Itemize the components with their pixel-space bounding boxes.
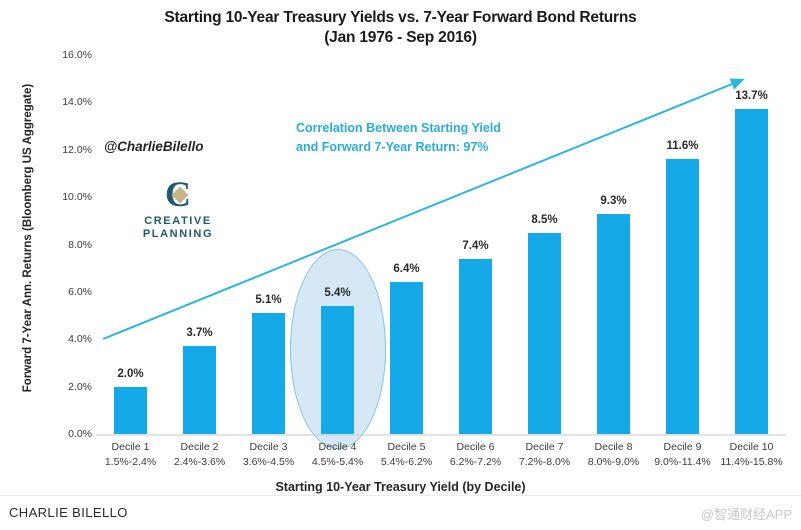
x-tick-decile: Decile 9	[643, 440, 723, 455]
y-axis-tick-label: 2.0%	[36, 381, 92, 393]
bar[interactable]	[183, 346, 216, 434]
bar-value-label: 5.1%	[233, 294, 305, 306]
y-axis-tick-label: 4.0%	[36, 333, 92, 345]
x-axis-tick-label: Decile 88.0%-9.0%	[574, 440, 654, 470]
bar-value-label: 2.0%	[95, 368, 167, 380]
bar[interactable]	[252, 313, 285, 434]
x-axis-tick-label: Decile 11.5%-2.4%	[91, 440, 171, 470]
x-tick-decile: Decile 3	[229, 440, 309, 455]
x-axis-tick-label: Decile 33.6%-4.5%	[229, 440, 309, 470]
y-axis-tick-label: 14.0%	[36, 96, 92, 108]
y-axis-tick-label: 0.0%	[36, 428, 92, 440]
bar-value-label: 3.7%	[164, 327, 236, 339]
x-tick-range: 1.5%-2.4%	[91, 455, 171, 470]
bar[interactable]	[459, 259, 492, 434]
x-tick-range: 7.2%-8.0%	[505, 455, 585, 470]
bar-value-label: 6.4%	[371, 263, 443, 275]
bar[interactable]	[114, 387, 147, 434]
x-axis-tick-label: Decile 22.4%-3.6%	[160, 440, 240, 470]
x-axis-title: Starting 10-Year Treasury Yield (by Deci…	[0, 480, 801, 494]
x-tick-decile: Decile 5	[367, 440, 447, 455]
x-tick-range: 2.4%-3.6%	[160, 455, 240, 470]
logo-mark-icon: C	[161, 178, 195, 212]
bar[interactable]	[321, 306, 354, 434]
x-tick-decile: Decile 10	[712, 440, 792, 455]
footer-watermark: @智通财经APP	[701, 504, 792, 523]
y-axis-tick-label: 6.0%	[36, 286, 92, 298]
logo-text-creative: CREATIVE	[122, 215, 234, 228]
x-axis-tick-label: Decile 77.2%-8.0%	[505, 440, 585, 470]
y-axis-tick-label: 12.0%	[36, 144, 92, 156]
y-axis-tick-label: 10.0%	[36, 191, 92, 203]
x-tick-range: 11.4%-15.8%	[712, 455, 792, 470]
y-axis-tick-label: 16.0%	[36, 49, 92, 61]
x-axis-tick-label: Decile 1011.4%-15.8%	[712, 440, 792, 470]
bar[interactable]	[597, 214, 630, 434]
bar[interactable]	[390, 282, 423, 434]
x-tick-range: 4.5%-5.4%	[298, 455, 378, 470]
y-axis-title: Forward 7-Year Ann. Returns (Bloomberg U…	[22, 58, 34, 418]
chart-area: Forward 7-Year Ann. Returns (Bloomberg U…	[0, 0, 801, 495]
bar-value-label: 8.5%	[509, 214, 581, 226]
x-tick-decile: Decile 6	[436, 440, 516, 455]
x-tick-decile: Decile 1	[91, 440, 171, 455]
correlation-annotation: Correlation Between Starting Yield and F…	[296, 119, 501, 157]
bar-value-label: 13.7%	[716, 90, 788, 102]
x-axis-tick-label: Decile 66.2%-7.2%	[436, 440, 516, 470]
x-axis-tick-label: Decile 44.5%-5.4%	[298, 440, 378, 470]
x-tick-range: 8.0%-9.0%	[574, 455, 654, 470]
footer-bar: CHARLIE BILELLO @智通财经APP	[0, 495, 801, 530]
bar-value-label: 7.4%	[440, 240, 512, 252]
x-tick-decile: Decile 2	[160, 440, 240, 455]
chart-screenshot: Starting 10-Year Treasury Yields vs. 7-Y…	[0, 0, 801, 530]
correlation-annotation-line1: Correlation Between Starting Yield	[296, 119, 501, 138]
x-tick-range: 3.6%-4.5%	[229, 455, 309, 470]
creative-planning-logo: C CREATIVE PLANNING	[122, 178, 234, 241]
bar[interactable]	[528, 233, 561, 434]
footer-author: CHARLIE BILELLO	[9, 505, 128, 520]
x-axis-tick-label: Decile 55.4%-6.2%	[367, 440, 447, 470]
x-tick-range: 9.0%-11.4%	[643, 455, 723, 470]
x-tick-decile: Decile 8	[574, 440, 654, 455]
x-tick-decile: Decile 4	[298, 440, 378, 455]
x-tick-range: 6.2%-7.2%	[436, 455, 516, 470]
bar-value-label: 5.4%	[302, 287, 374, 299]
author-handle: @CharlieBilello	[104, 139, 203, 154]
x-axis-tick-label: Decile 99.0%-11.4%	[643, 440, 723, 470]
correlation-annotation-line2: and Forward 7-Year Return: 97%	[296, 138, 501, 157]
bar-value-label: 11.6%	[647, 140, 719, 152]
x-tick-decile: Decile 7	[505, 440, 585, 455]
plot-canvas: 2.0%3.7%5.1%5.4%6.4%7.4%8.5%9.3%11.6%13.…	[96, 55, 786, 434]
bar[interactable]	[735, 109, 768, 434]
bar-value-label: 9.3%	[578, 195, 650, 207]
x-tick-range: 5.4%-6.2%	[367, 455, 447, 470]
x-axis-line	[96, 434, 786, 436]
logo-text-planning: PLANNING	[122, 228, 234, 241]
bar[interactable]	[666, 159, 699, 434]
y-axis-tick-label: 8.0%	[36, 239, 92, 251]
